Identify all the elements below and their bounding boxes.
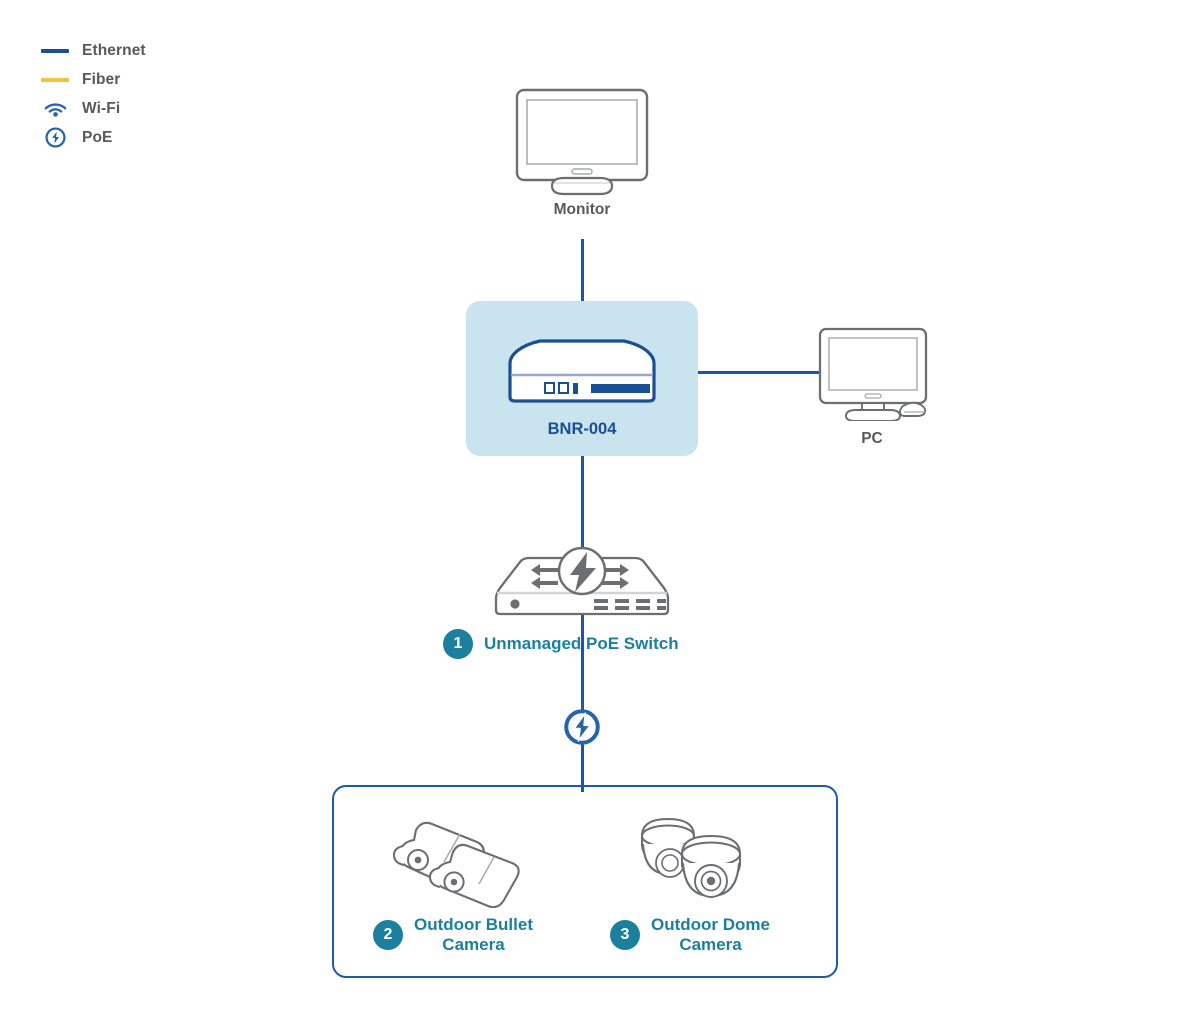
- monitor-label: Monitor: [554, 201, 611, 219]
- wifi-icon: [40, 100, 70, 117]
- legend-item-label: Ethernet: [82, 42, 146, 60]
- legend: Ethernet Fiber Wi-Fi: [40, 36, 260, 152]
- bullet-camera-number-badge: 2: [373, 920, 403, 950]
- recorder-label: BNR-004: [548, 420, 617, 439]
- fiber-line-icon: [40, 78, 70, 82]
- node-poe-switch[interactable]: [486, 540, 678, 623]
- node-bullet-camera[interactable]: [382, 812, 546, 913]
- link-monitor-to-recorder: [581, 239, 584, 303]
- legend-item-label: Fiber: [82, 71, 120, 89]
- dome-camera-icon: [634, 808, 766, 913]
- ethernet-line-icon: [40, 49, 70, 53]
- monitor-icon: [506, 86, 658, 201]
- node-monitor[interactable]: Monitor: [506, 86, 658, 219]
- bullet-camera-label: Outdoor Bullet Camera: [414, 915, 533, 955]
- dome-camera-number-badge: 3: [610, 920, 640, 950]
- bullet-camera-caption[interactable]: 2 Outdoor Bullet Camera: [373, 915, 533, 955]
- dome-camera-caption[interactable]: 3 Outdoor Dome Camera: [610, 915, 770, 955]
- poe-switch-icon: [486, 540, 678, 623]
- poe-bolt-icon: [40, 127, 70, 148]
- node-dome-camera[interactable]: [634, 808, 766, 913]
- switch-number-badge: 1: [443, 629, 473, 659]
- legend-item-label: PoE: [82, 129, 112, 147]
- dome-camera-label: Outdoor Dome Camera: [651, 915, 770, 955]
- pc-label: PC: [861, 430, 883, 448]
- node-recorder[interactable]: BNR-004: [488, 333, 676, 439]
- legend-item-ethernet: Ethernet: [40, 36, 260, 65]
- node-pc[interactable]: PC: [806, 325, 938, 448]
- legend-item-wifi: Wi-Fi: [40, 94, 260, 123]
- network-diagram-canvas: Ethernet Fiber Wi-Fi: [0, 0, 1200, 1034]
- legend-item-label: Wi-Fi: [82, 100, 120, 118]
- legend-item-fiber: Fiber: [40, 65, 260, 94]
- nvr-icon: [488, 333, 676, 410]
- switch-label: Unmanaged PoE Switch: [484, 634, 679, 654]
- bullet-camera-icon: [382, 812, 546, 913]
- poe-switch-caption[interactable]: 1 Unmanaged PoE Switch: [443, 629, 679, 659]
- poe-bolt-icon: [563, 708, 601, 751]
- legend-item-poe: PoE: [40, 123, 260, 152]
- pc-icon: [806, 325, 938, 426]
